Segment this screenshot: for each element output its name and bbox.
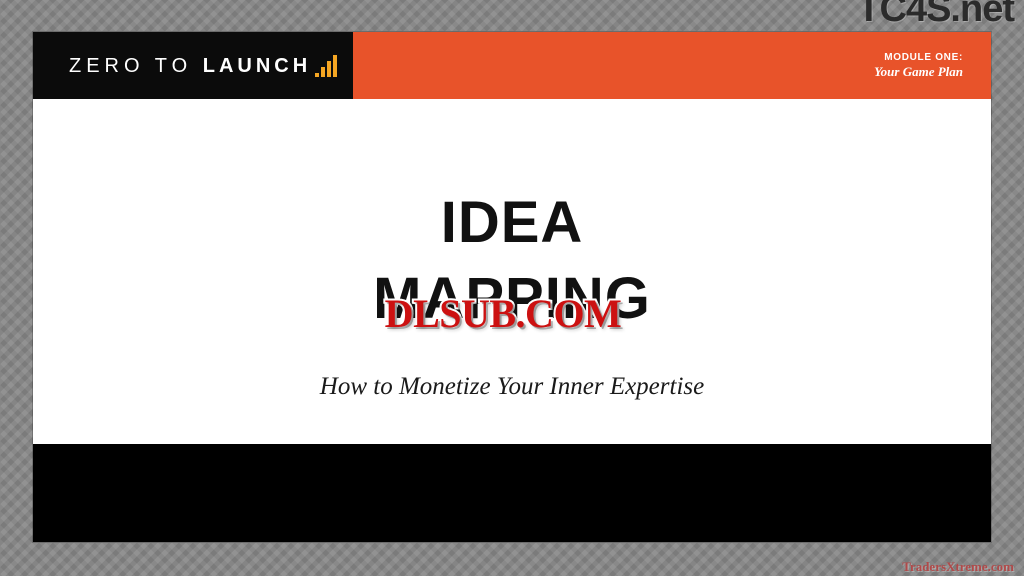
bar-chart-icon-bar-2 xyxy=(321,67,325,77)
module-label-block: MODULE ONE: Your Game Plan xyxy=(874,32,963,99)
brand-logo-text-bold: LAUNCH xyxy=(203,55,311,77)
module-eyebrow: MODULE ONE: xyxy=(884,53,963,63)
bar-chart-icon-bar-1 xyxy=(315,73,319,77)
presentation-slide: ZERO TO LAUNCH MODULE ONE: Your Game Pla… xyxy=(33,32,991,542)
brand-logo-text: ZERO TO LAUNCH xyxy=(69,56,311,76)
slide-footer xyxy=(33,444,991,542)
watermark-center: DLSUB.COM xyxy=(385,294,622,334)
watermark-top-right: TC4S.net xyxy=(857,0,1014,28)
bar-chart-icon-bar-4 xyxy=(333,55,337,77)
page-title-line-1: IDEA xyxy=(33,185,991,261)
module-name: Your Game Plan xyxy=(874,65,963,78)
slide-body: IDEA MAPPING How to Monetize Your Inner … xyxy=(33,99,991,444)
page-subtitle: How to Monetize Your Inner Expertise xyxy=(33,374,991,399)
slide-header: ZERO TO LAUNCH MODULE ONE: Your Game Pla… xyxy=(33,32,991,99)
slide-viewer: ZERO TO LAUNCH MODULE ONE: Your Game Pla… xyxy=(0,0,1024,576)
brand-logo: ZERO TO LAUNCH xyxy=(69,32,337,99)
bar-chart-icon-bar-3 xyxy=(327,61,331,77)
bar-chart-icon xyxy=(315,55,337,77)
brand-logo-text-light: ZERO TO xyxy=(69,55,203,77)
watermark-bottom-right: TradersXtreme.com xyxy=(902,560,1014,573)
